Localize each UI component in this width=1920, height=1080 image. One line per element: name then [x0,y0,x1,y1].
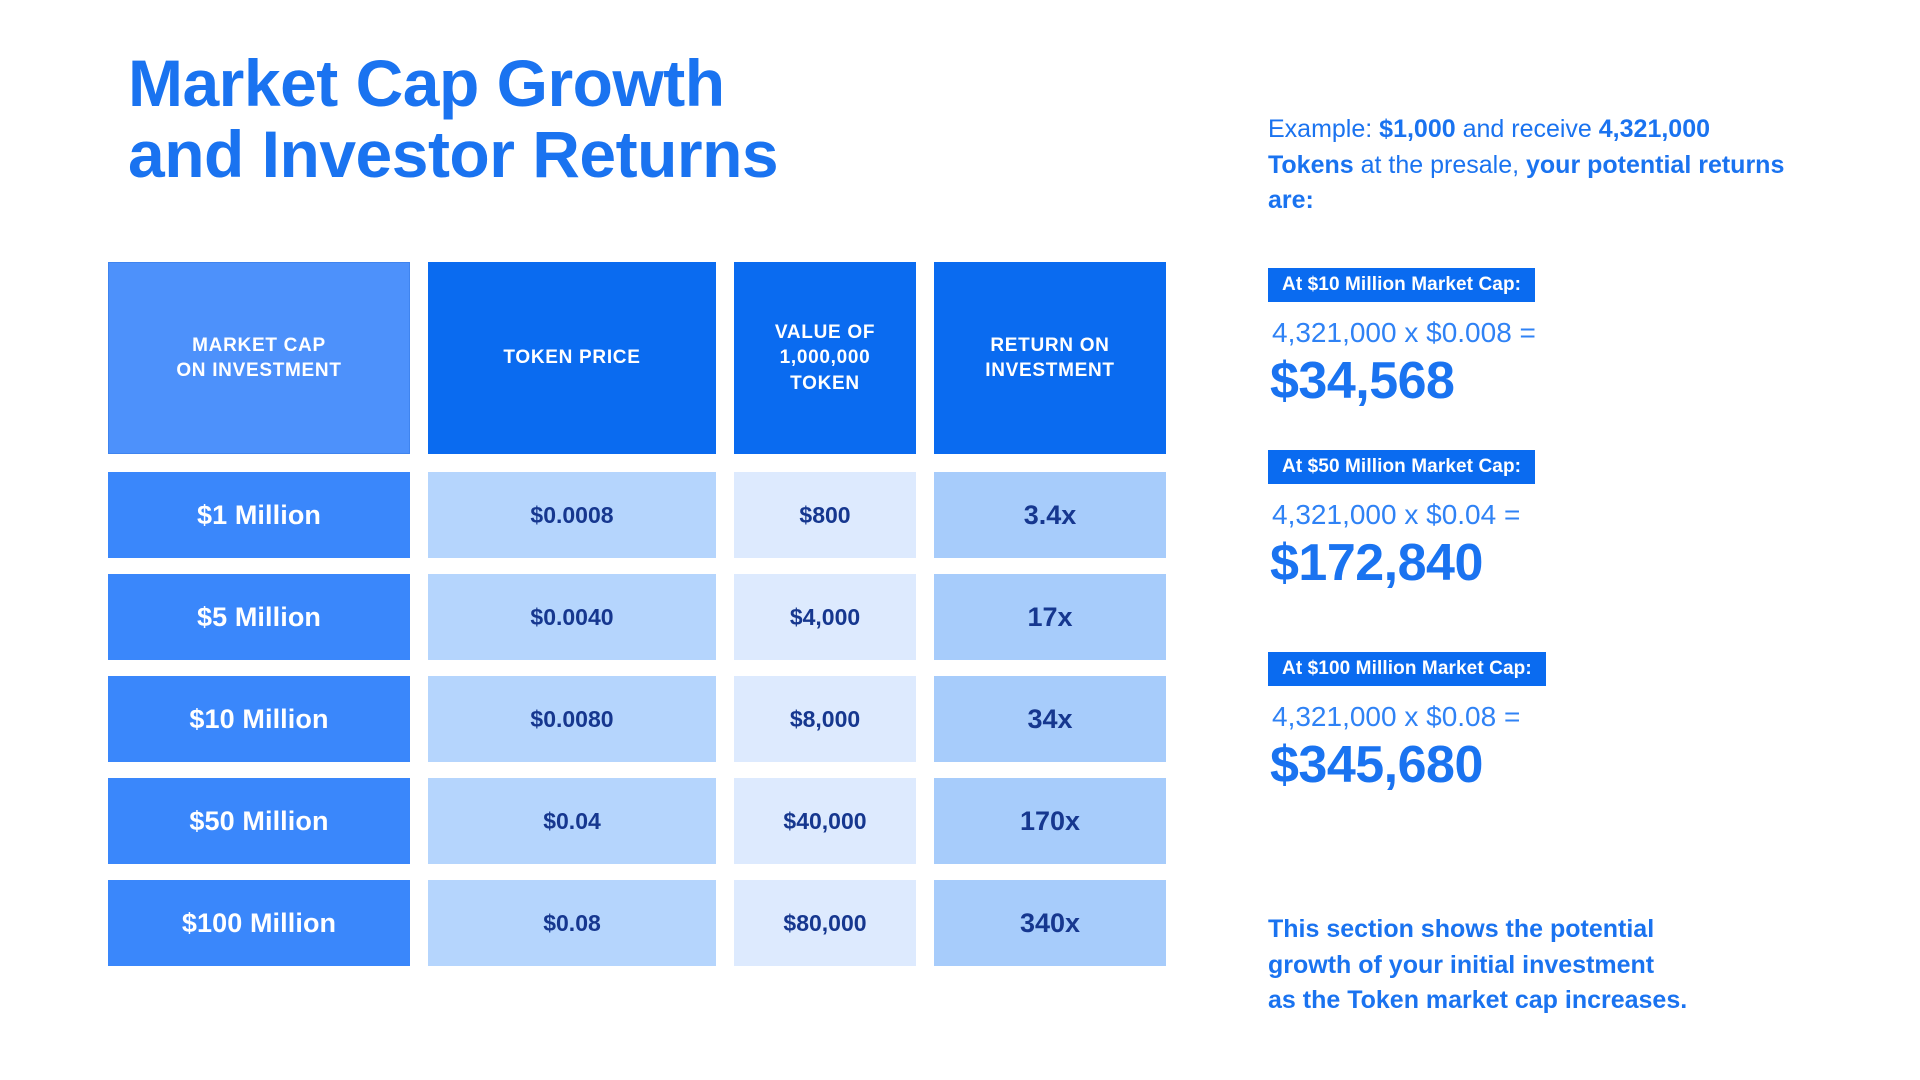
column-header-value-of-token: VALUE OF 1,000,000 TOKEN [734,262,916,454]
infographic-page: Market Cap Growth and Investor Returns M… [0,0,1920,1080]
cell-token-price: $0.04 [428,778,716,864]
column-header-return-on-investment: RETURN ON INVESTMENT [934,262,1166,454]
cell-token-value: $8,000 [734,676,916,762]
calculation-result: $172,840 [1270,533,1788,594]
cell-return: 170x [934,778,1166,864]
cell-token-value: $4,000 [734,574,916,660]
calculation-block-100m: At $100 Million Market Cap: 4,321,000 x … [1268,652,1788,796]
intro-prefix: Example: [1268,115,1379,143]
cell-market-cap: $50 Million [108,778,410,864]
cell-return: 340x [934,880,1166,966]
table-row: $50 Million $0.04 $40,000 170x [108,778,1168,864]
page-title: Market Cap Growth and Investor Returns [128,48,778,189]
table-row: $5 Million $0.0040 $4,000 17x [108,574,1168,660]
calculation-formula: 4,321,000 x $0.08 = [1272,702,1788,733]
table-header-row: MARKET CAP ON INVESTMENT TOKEN PRICE VAL… [108,262,1168,454]
column-header-market-cap: MARKET CAP ON INVESTMENT [108,262,410,454]
section-footnote: This section shows the potential growth … [1268,912,1788,1019]
calculation-result: $34,568 [1270,351,1788,412]
table-row: $10 Million $0.0080 $8,000 34x [108,676,1168,762]
calculation-formula: 4,321,000 x $0.04 = [1272,500,1788,531]
example-panel: Example: $1,000 and receive 4,321,000 To… [1268,0,1828,1080]
cell-token-price: $0.0080 [428,676,716,762]
cell-market-cap: $5 Million [108,574,410,660]
intro-mid: and receive [1456,115,1599,143]
calculation-block-10m: At $10 Million Market Cap: 4,321,000 x $… [1268,268,1788,412]
intro-amount: $1,000 [1379,115,1455,143]
table-body: $1 Million $0.0008 $800 3.4x $5 Million … [108,472,1168,966]
market-cap-badge: At $100 Million Market Cap: [1268,652,1546,686]
cell-token-value: $800 [734,472,916,558]
cell-market-cap: $10 Million [108,676,410,762]
market-cap-badge: At $50 Million Market Cap: [1268,450,1535,484]
cell-return: 34x [934,676,1166,762]
table-row: $1 Million $0.0008 $800 3.4x [108,472,1168,558]
example-intro: Example: $1,000 and receive 4,321,000 To… [1268,112,1788,219]
cell-token-price: $0.0040 [428,574,716,660]
cell-market-cap: $1 Million [108,472,410,558]
intro-suffix: at the presale, [1354,151,1526,179]
cell-market-cap: $100 Million [108,880,410,966]
cell-return: 17x [934,574,1166,660]
calculation-result: $345,680 [1270,735,1788,796]
cell-token-value: $80,000 [734,880,916,966]
market-cap-badge: At $10 Million Market Cap: [1268,268,1535,302]
column-header-token-price: TOKEN PRICE [428,262,716,454]
calculation-formula: 4,321,000 x $0.008 = [1272,318,1788,349]
calculation-block-50m: At $50 Million Market Cap: 4,321,000 x $… [1268,450,1788,594]
cell-token-value: $40,000 [734,778,916,864]
table-panel: Market Cap Growth and Investor Returns M… [108,0,1168,1080]
cell-return: 3.4x [934,472,1166,558]
cell-token-price: $0.08 [428,880,716,966]
returns-table: MARKET CAP ON INVESTMENT TOKEN PRICE VAL… [108,262,1168,982]
table-row: $100 Million $0.08 $80,000 340x [108,880,1168,966]
cell-token-price: $0.0008 [428,472,716,558]
